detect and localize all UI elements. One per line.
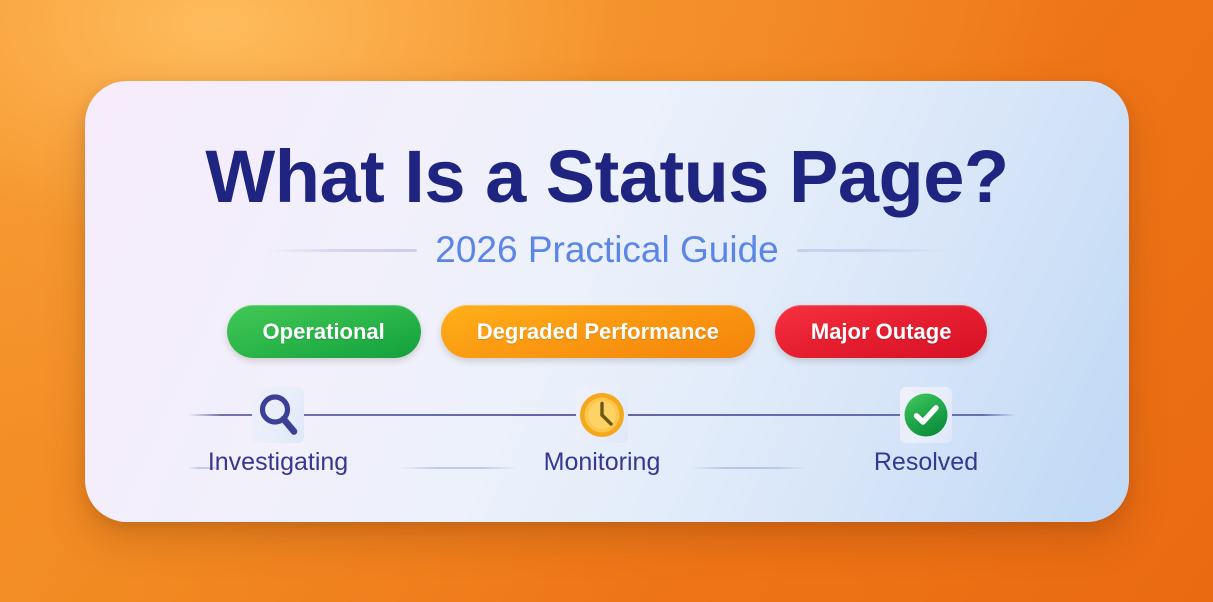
timeline-step-label: Investigating <box>208 447 348 477</box>
page-subtitle: 2026 Practical Guide <box>435 229 778 272</box>
timeline-step-label: Resolved <box>874 447 978 477</box>
magnifying-glass-icon <box>250 387 306 443</box>
status-badge-major-outage[interactable]: Major Outage <box>775 305 988 358</box>
incident-timeline: Investigating Monitoring <box>188 391 1016 491</box>
subtitle-rule-left <box>265 249 417 252</box>
check-circle-icon <box>898 387 954 443</box>
clock-icon <box>574 387 630 443</box>
status-badge-group: Operational Degraded Performance Major O… <box>85 305 1129 358</box>
status-badge-label: Major Outage <box>811 319 952 345</box>
subtitle-row: 2026 Practical Guide <box>85 229 1129 272</box>
timeline-step-resolved[interactable]: Resolved <box>836 391 1016 477</box>
subtitle-rule-right <box>797 249 949 252</box>
status-badge-degraded-performance[interactable]: Degraded Performance <box>441 305 755 358</box>
status-page-card: What Is a Status Page? 2026 Practical Gu… <box>85 81 1129 522</box>
page-title: What Is a Status Page? <box>85 138 1129 216</box>
timeline-step-label: Monitoring <box>544 447 661 477</box>
status-badge-label: Operational <box>263 319 385 345</box>
timeline-step-monitoring[interactable]: Monitoring <box>512 391 692 477</box>
poster-background: What Is a Status Page? 2026 Practical Gu… <box>0 0 1213 602</box>
timeline-steps: Investigating Monitoring <box>188 391 1016 491</box>
status-badge-label: Degraded Performance <box>477 319 719 345</box>
status-badge-operational[interactable]: Operational <box>227 305 421 358</box>
timeline-step-investigating[interactable]: Investigating <box>188 391 368 477</box>
